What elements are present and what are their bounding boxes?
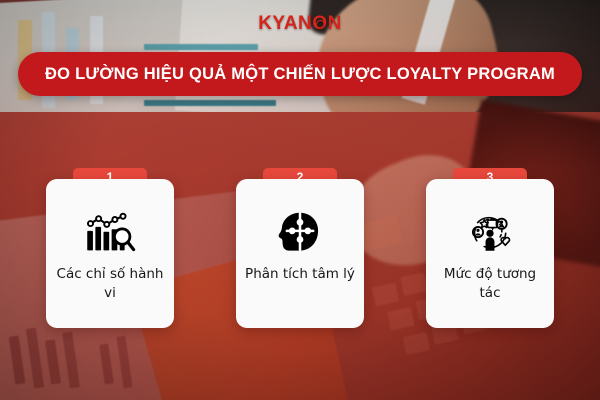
card-panel: Mức độ tương tác	[426, 179, 554, 328]
logo-text-part1: KYAN	[258, 13, 312, 34]
social-engagement-icon	[463, 209, 517, 255]
card-label: Phân tích tâm lý	[237, 265, 363, 284]
card-label: Mức độ tương tác	[426, 265, 554, 302]
logo-text-part2: N	[328, 13, 342, 34]
card-panel: Phân tích tâm lý	[236, 179, 364, 328]
brand-logo: KYANON	[0, 14, 600, 34]
logo-o-glyph: O	[312, 14, 327, 33]
brand-logo-text: KYANON	[258, 14, 342, 33]
card-panel: Các chỉ số hành vi	[46, 179, 174, 328]
cards-row: 1	[0, 168, 600, 330]
card-item-2: 2	[236, 168, 364, 328]
infographic-poster: KYANON ĐO LƯỜNG HIỆU QUẢ MỘT CHIẾN LƯỢC …	[0, 0, 600, 400]
head-puzzle-psychology-icon	[273, 209, 327, 255]
page-title: ĐO LƯỜNG HIỆU QUẢ MỘT CHIẾN LƯỢC LOYALTY…	[45, 65, 555, 84]
card-item-1: 1	[46, 168, 174, 328]
title-banner: ĐO LƯỜNG HIỆU QUẢ MỘT CHIẾN LƯỢC LOYALTY…	[18, 52, 582, 96]
card-label: Các chỉ số hành vi	[46, 265, 174, 302]
bar-chart-analytics-icon	[83, 209, 137, 255]
card-item-3: 3	[426, 168, 554, 328]
